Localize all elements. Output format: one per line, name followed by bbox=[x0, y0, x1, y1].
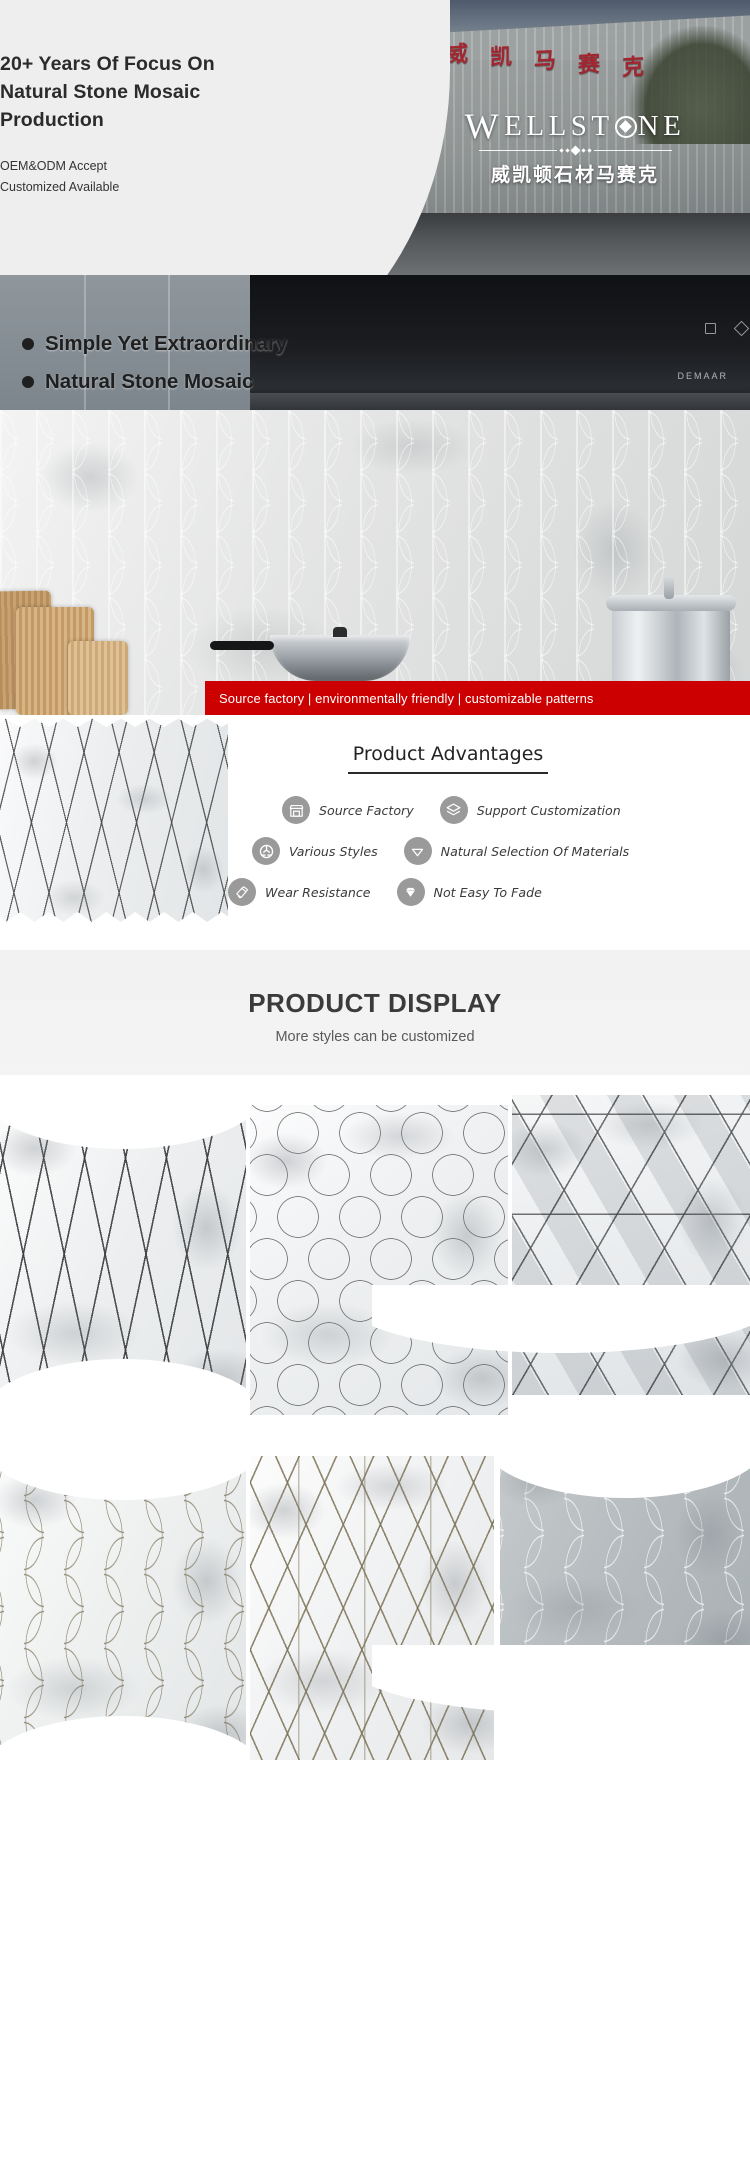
product-display-section: PRODUCT DISPLAY More styles can be custo… bbox=[0, 950, 750, 1785]
product-tile-gray-petal[interactable] bbox=[500, 1438, 750, 1668]
divider-dot bbox=[587, 148, 591, 152]
curve-shape bbox=[372, 1645, 750, 1713]
diamond-icon bbox=[615, 116, 637, 138]
cutting-board bbox=[68, 641, 128, 715]
product-advantages-section: Product Advantages Source Factory bbox=[0, 715, 750, 950]
advantages-list: Source Factory Support Customization bbox=[228, 796, 750, 906]
advantage-label: Source Factory bbox=[319, 803, 414, 818]
divider-dot bbox=[581, 148, 585, 152]
red-feature-strip: Source factory | environmentally friendl… bbox=[205, 681, 750, 715]
hood-light-icon[interactable] bbox=[734, 321, 750, 337]
logo-divider bbox=[425, 147, 725, 154]
hero-banner: 威 凯 马 赛 克 20+ Years Of Focus On Natural … bbox=[0, 0, 750, 275]
polish-hand-icon bbox=[228, 878, 256, 906]
hood-control-panel[interactable] bbox=[705, 323, 750, 334]
hood-display-icon[interactable] bbox=[705, 323, 716, 334]
hero-text-panel: 20+ Years Of Focus On Natural Stone Mosa… bbox=[0, 0, 450, 275]
logo-letter-w: W bbox=[465, 110, 503, 142]
diamond-gem-icon bbox=[397, 878, 425, 906]
hood-brand-label: DEMAAR bbox=[677, 371, 728, 381]
product-display-subtitle: More styles can be customized bbox=[0, 1029, 750, 1045]
divider-bar-left bbox=[479, 150, 557, 151]
headline-bullet-text: Simple Yet Extraordinary bbox=[45, 325, 287, 363]
divider-dot bbox=[559, 148, 563, 152]
red-strip-text: Source factory | environmentally friendl… bbox=[205, 691, 594, 706]
headline-bullet-text: Natural Stone Mosaic bbox=[45, 363, 253, 401]
hero-headline: 20+ Years Of Focus On Natural Stone Mosa… bbox=[0, 50, 250, 134]
advantage-label: Wear Resistance bbox=[265, 885, 371, 900]
bullet-dot-icon bbox=[22, 338, 34, 350]
recycle-icon bbox=[252, 837, 280, 865]
divider-dot bbox=[565, 148, 569, 152]
advantage-row: Wear Resistance Not Easy To Fade bbox=[228, 878, 750, 906]
sign-char: 马 bbox=[534, 42, 556, 75]
curve-shape bbox=[372, 1285, 750, 1353]
hero-subtext-line2: Customized Available bbox=[0, 177, 330, 198]
advantage-row: Various Styles Natural Selection Of Mate… bbox=[228, 837, 750, 865]
advantage-item-various-styles[interactable]: Various Styles bbox=[252, 837, 378, 865]
product-tile-row bbox=[0, 1430, 750, 1785]
advantage-item-source-factory[interactable]: Source Factory bbox=[282, 796, 414, 824]
leaf-mosaic-sample bbox=[0, 715, 228, 930]
product-marketing-page: 威 凯 马 赛 克 20+ Years Of Focus On Natural … bbox=[0, 0, 750, 1785]
hero-subtext: OEM&ODM Accept Customized Available bbox=[0, 156, 330, 198]
kitchen-banner: DEMAAR Simple Yet Extraordinary Natural … bbox=[0, 275, 750, 715]
product-tile-row bbox=[0, 1075, 750, 1430]
advantage-item-support-customization[interactable]: Support Customization bbox=[440, 796, 621, 824]
divider-dot-large bbox=[570, 146, 580, 156]
product-tile-petal-leaf[interactable] bbox=[0, 1440, 246, 1776]
stack-layers-icon bbox=[440, 796, 468, 824]
stock-pot bbox=[612, 607, 730, 689]
logo-chinese-name: 威凯顿石材马赛克 bbox=[425, 160, 725, 187]
logo-wordmark: W ELLST NE bbox=[425, 110, 725, 143]
hero-subtext-line1: OEM&ODM Accept bbox=[0, 156, 330, 177]
advantage-item-wear-resistance[interactable]: Wear Resistance bbox=[228, 878, 371, 906]
leaf-mosaic-pattern bbox=[0, 715, 228, 930]
logo-letters-a: ELLST bbox=[504, 110, 614, 143]
wellstone-logo: W ELLST NE 威凯顿石材马赛克 bbox=[425, 110, 725, 187]
advantage-item-natural-selection[interactable]: Natural Selection Of Materials bbox=[404, 837, 630, 865]
advantages-title: Product Advantages bbox=[348, 743, 548, 774]
advantage-label: Various Styles bbox=[289, 844, 378, 859]
sign-char: 克 bbox=[622, 49, 644, 82]
kitchen-headline-list: Simple Yet Extraordinary Natural Stone M… bbox=[22, 325, 287, 401]
advantage-row: Source Factory Support Customization bbox=[228, 796, 750, 824]
product-tile-feather-leaf[interactable] bbox=[0, 1089, 246, 1419]
tile-row-bottom-curve bbox=[372, 1285, 750, 1430]
tile-row-bottom-curve bbox=[372, 1645, 750, 1785]
advantage-label: Natural Selection Of Materials bbox=[441, 844, 630, 859]
advantage-label: Support Customization bbox=[477, 803, 621, 818]
advantage-label: Not Easy To Fade bbox=[434, 885, 542, 900]
sign-char: 赛 bbox=[578, 46, 600, 79]
headline-bullet-row: Natural Stone Mosaic bbox=[22, 363, 287, 401]
sign-char: 凯 bbox=[490, 39, 512, 72]
bullet-dot-icon bbox=[22, 376, 34, 388]
advantages-content: Product Advantages Source Factory bbox=[228, 715, 750, 950]
gem-chevron-icon bbox=[404, 837, 432, 865]
advantage-item-not-easy-to-fade[interactable]: Not Easy To Fade bbox=[397, 878, 542, 906]
shop-icon bbox=[282, 796, 310, 824]
headline-bullet-row: Simple Yet Extraordinary bbox=[22, 325, 287, 363]
product-display-title: PRODUCT DISPLAY bbox=[0, 988, 750, 1019]
divider-bar-right bbox=[594, 150, 672, 151]
logo-letters-b: NE bbox=[638, 110, 686, 143]
cutting-boards bbox=[0, 585, 130, 715]
